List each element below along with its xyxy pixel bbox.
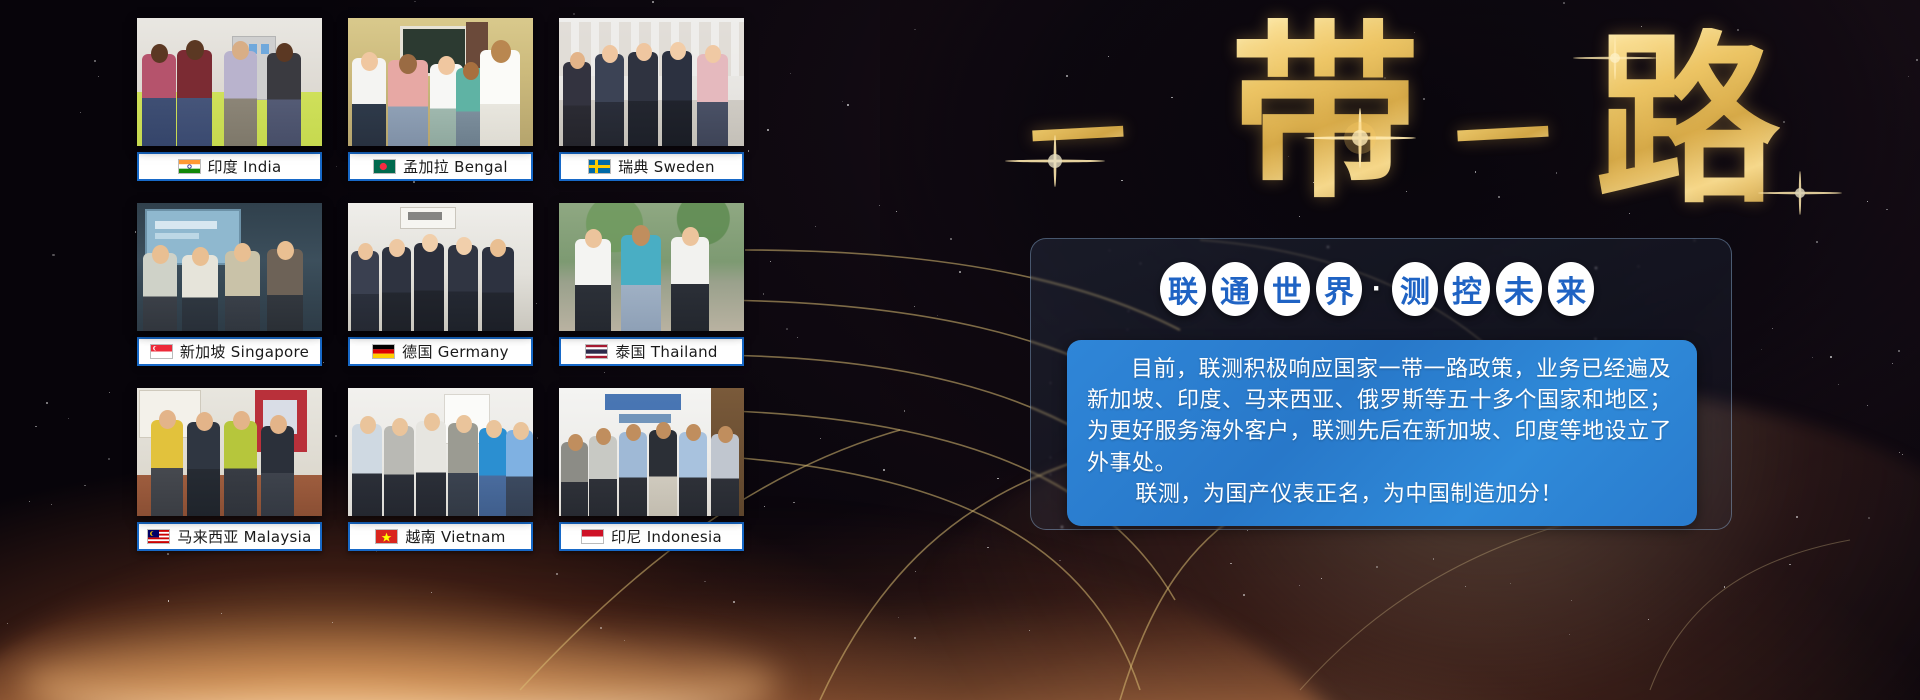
photo-thumb-india [137, 18, 322, 146]
photo-label-indonesia: 印尼 Indonesia [559, 522, 744, 551]
banner-stage: 印度 India [0, 0, 1920, 700]
slogan-char: 未 [1496, 262, 1542, 316]
photo-caption: 瑞典 Sweden [618, 156, 715, 177]
photo-label-bengal: 孟加拉 Bengal [348, 152, 533, 181]
photo-caption: 德国 Germany [402, 341, 509, 362]
photo-caption: 印尼 Indonesia [611, 526, 722, 547]
slogan-row: 联 通 世 界 · 测 控 未 来 [1160, 262, 1594, 316]
slogan-char: 来 [1548, 262, 1594, 316]
photo-card-thailand[interactable]: 泰国 Thailand [559, 203, 744, 366]
photo-thumb-thailand [559, 203, 744, 331]
photo-card-india[interactable]: 印度 India [137, 18, 322, 181]
photo-card-singapore[interactable]: 新加坡 Singapore [137, 203, 322, 366]
slogan-char: 世 [1264, 262, 1310, 316]
calligraphy-char-2: 带 [1230, 18, 1420, 208]
photo-caption: 泰国 Thailand [615, 341, 718, 362]
flag-malaysia-icon [147, 529, 170, 544]
slogan-char: 通 [1212, 262, 1258, 316]
description-paragraph-2: 联测，为国产仪表正名，为中国制造加分！ [1087, 479, 1677, 510]
photo-caption: 印度 India [208, 156, 282, 177]
flag-india-icon [178, 159, 201, 174]
calligraphy-char-1: 一 [1028, 88, 1129, 189]
photo-caption: 越南 Vietnam [405, 526, 505, 547]
flag-bangladesh-icon [373, 159, 396, 174]
calligraphy-headline: 一 带 一 路 [1025, 18, 1915, 233]
flag-vietnam-icon [375, 529, 398, 544]
photo-caption: 马来西亚 Malaysia [177, 526, 311, 547]
slogan-char: 联 [1160, 262, 1206, 316]
photo-card-sweden[interactable]: 瑞典 Sweden [559, 18, 744, 181]
photo-label-vietnam: 越南 Vietnam [348, 522, 533, 551]
photo-thumb-germany [348, 203, 533, 331]
slogan-char: 测 [1392, 262, 1438, 316]
calligraphy-char-3: 一 [1453, 88, 1554, 189]
photo-thumb-indonesia [559, 388, 744, 516]
slogan-char: 界 [1316, 262, 1362, 316]
photo-card-vietnam[interactable]: 越南 Vietnam [348, 388, 533, 551]
photo-caption: 孟加拉 Bengal [403, 156, 508, 177]
photo-card-malaysia[interactable]: 马来西亚 Malaysia [137, 388, 322, 551]
photo-label-thailand: 泰国 Thailand [559, 337, 744, 366]
photo-label-singapore: 新加坡 Singapore [137, 337, 322, 366]
slogan-separator-dot: · [1368, 262, 1386, 316]
photo-label-sweden: 瑞典 Sweden [559, 152, 744, 181]
photo-card-bengal[interactable]: 孟加拉 Bengal [348, 18, 533, 181]
flag-thailand-icon [585, 344, 608, 359]
country-photo-grid: 印度 India [137, 18, 767, 583]
flag-sweden-icon [588, 159, 611, 174]
flag-germany-icon [372, 344, 395, 359]
photo-caption: 新加坡 Singapore [180, 341, 309, 362]
flag-indonesia-icon [581, 529, 604, 544]
photo-thumb-bengal [348, 18, 533, 146]
photo-label-india: 印度 India [137, 152, 322, 181]
photo-card-indonesia[interactable]: 印尼 Indonesia [559, 388, 744, 551]
calligraphy-char-4: 路 [1595, 28, 1780, 213]
photo-thumb-malaysia [137, 388, 322, 516]
slogan-char: 控 [1444, 262, 1490, 316]
description-paragraph-1: 目前，联测积极响应国家一带一路政策，业务已经遍及新加坡、印度、马来西亚、俄罗斯等… [1087, 354, 1677, 479]
photo-label-malaysia: 马来西亚 Malaysia [137, 522, 322, 551]
description-textbox: 目前，联测积极响应国家一带一路政策，业务已经遍及新加坡、印度、马来西亚、俄罗斯等… [1067, 340, 1697, 526]
flag-singapore-icon [150, 344, 173, 359]
photo-label-germany: 德国 Germany [348, 337, 533, 366]
photo-thumb-singapore [137, 203, 322, 331]
photo-thumb-vietnam [348, 388, 533, 516]
photo-card-germany[interactable]: 德国 Germany [348, 203, 533, 366]
photo-thumb-sweden [559, 18, 744, 146]
